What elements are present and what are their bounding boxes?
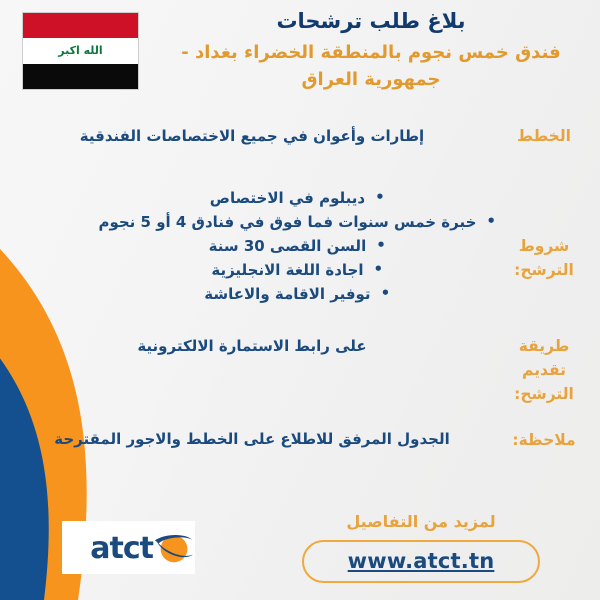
list-item: خبرة خمس سنوات فما فوق في فنادق 4 أو 5 ن… bbox=[98, 210, 496, 234]
poster-canvas: الله اكبر بلاغ طلب ترشحات فندق خمس نجوم … bbox=[0, 0, 600, 600]
section-terms-label-line-2: الترشح: bbox=[496, 258, 592, 282]
subtitle-line-2: جمهورية العراق bbox=[150, 67, 592, 93]
more-details-label: لمزيد من التفاصيل bbox=[302, 512, 540, 533]
flag-white-band: الله اكبر bbox=[23, 38, 138, 63]
more-details-block: لمزيد من التفاصيل www.atct.tn bbox=[302, 512, 540, 583]
section-apply-label-line-1: طريقة تقديم bbox=[496, 334, 592, 382]
section-terms: شروط الترشح: ديبلوم في الاختصاص خبرة خمس… bbox=[8, 186, 592, 306]
list-item: اجادة اللغة الانجليزية bbox=[98, 258, 496, 282]
flag-takbir-text: الله اكبر bbox=[23, 38, 138, 63]
website-url-text[interactable]: www.atct.tn bbox=[348, 549, 495, 573]
section-note-value: الجدول المرفق للاطلاع على الخطط والاجور … bbox=[8, 428, 496, 451]
list-item: ديبلوم في الاختصاص bbox=[98, 186, 496, 210]
website-url-button[interactable]: www.atct.tn bbox=[302, 540, 540, 583]
page-title: بلاغ طلب ترشحات bbox=[150, 6, 592, 38]
iraq-flag: الله اكبر bbox=[22, 12, 139, 90]
section-terms-bullet-list: ديبلوم في الاختصاص خبرة خمس سنوات فما فو… bbox=[98, 186, 496, 306]
poster-header: بلاغ طلب ترشحات فندق خمس نجوم بالمنطقة ا… bbox=[150, 6, 592, 93]
section-apply-value: على رابط الاستمارة الالكترونية bbox=[8, 334, 496, 358]
section-note-label: ملاحظة: bbox=[496, 428, 592, 452]
list-item: السن القصى 30 سنة bbox=[98, 234, 496, 258]
section-plans-label: الخطط bbox=[496, 124, 592, 148]
flag-red-band bbox=[23, 13, 138, 38]
section-plans: الخطط إطارات وأعوان في جميع الاختصاصات ا… bbox=[8, 124, 592, 148]
atct-logo: atct bbox=[62, 521, 195, 574]
section-plans-value: إطارات وأعوان في جميع الاختصاصات الفندقي… bbox=[8, 124, 496, 148]
atct-logo-text: atct bbox=[90, 534, 153, 564]
section-apply-label: طريقة تقديم الترشح: bbox=[496, 334, 592, 406]
section-apply-label-line-2: الترشح: bbox=[496, 382, 592, 406]
section-apply: طريقة تقديم الترشح: على رابط الاستمارة ا… bbox=[8, 334, 592, 406]
section-terms-label: شروط الترشح: bbox=[496, 186, 592, 282]
flag-black-band bbox=[23, 64, 138, 89]
section-terms-label-line-1: شروط bbox=[496, 234, 592, 258]
list-item: توفير الاقامة والاعاشة bbox=[98, 282, 496, 306]
section-note: ملاحظة: الجدول المرفق للاطلاع على الخطط … bbox=[8, 428, 592, 452]
globe-swoosh-icon bbox=[153, 527, 195, 569]
subtitle-line-1: فندق خمس نجوم بالمنطقة الخضراء بغداد - bbox=[150, 40, 592, 66]
